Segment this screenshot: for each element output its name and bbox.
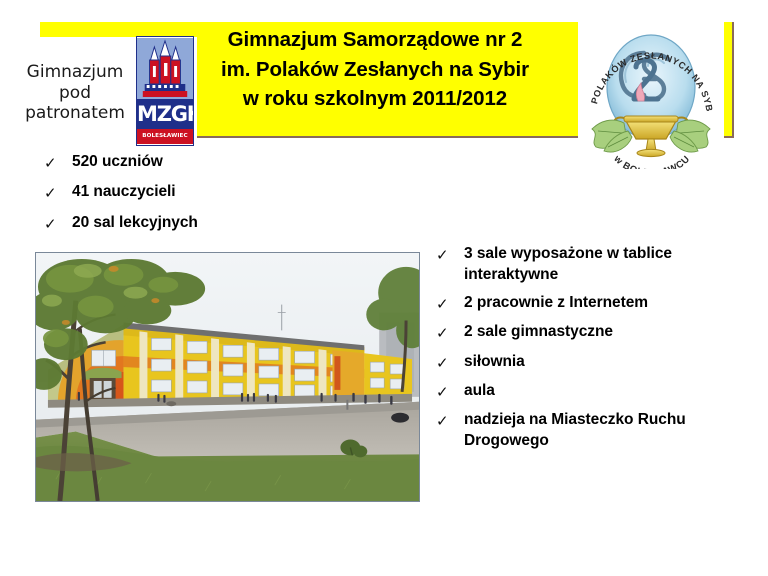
mzgk-logo: MZGK BOLESŁAWIEC <box>136 36 194 146</box>
patron-line-2: pod <box>14 83 136 104</box>
check-icon: ✓ <box>436 293 464 314</box>
list-item-label: 2 pracownie z Internetem <box>464 293 648 314</box>
list-item: ✓ 2 sale gimnastyczne <box>436 322 736 343</box>
mzgk-subtitle: BOLESŁAWIEC <box>137 129 193 144</box>
title-line-1: Gimnazjum Samorządowe nr 2 <box>150 25 600 55</box>
list-item-label: 520 uczniów <box>72 152 163 173</box>
patron-line-3: patronatem <box>14 103 136 124</box>
list-item-label: aula <box>464 381 495 402</box>
list-item-label: nadzieja na Miasteczko Ruchu Drogowego <box>464 410 736 451</box>
castle-icon <box>137 38 193 100</box>
stats-list: ✓ 520 uczniów ✓ 41 nauczycieli ✓ 20 sal … <box>44 152 384 243</box>
title-line-3: w roku szkolnym 2011/2012 <box>150 84 600 114</box>
check-icon: ✓ <box>436 410 464 431</box>
list-item-label: 20 sal lekcyjnych <box>72 213 198 234</box>
list-item: ✓ 520 uczniów <box>44 152 384 173</box>
check-icon: ✓ <box>44 213 72 234</box>
check-icon: ✓ <box>44 182 72 203</box>
list-item-label: 3 sale wyposażone w tablice interaktywne <box>464 244 736 285</box>
mzgk-wordmark: MZGK <box>137 99 193 129</box>
check-icon: ✓ <box>436 352 464 373</box>
list-item: ✓ 41 nauczycieli <box>44 182 384 203</box>
patron-line-1: Gimnazjum <box>14 62 136 83</box>
list-item: ✓ nadzieja na Miasteczko Ruchu Drogowego <box>436 410 736 451</box>
list-item: ✓ siłownia <box>436 352 736 373</box>
list-item: ✓ 2 pracownie z Internetem <box>436 293 736 314</box>
check-icon: ✓ <box>44 152 72 173</box>
list-item: ✓ aula <box>436 381 736 402</box>
check-icon: ✓ <box>436 381 464 402</box>
check-icon: ✓ <box>436 244 464 265</box>
facilities-list: ✓ 3 sale wyposażone w tablice interaktyw… <box>436 244 736 459</box>
school-photo <box>35 252 420 502</box>
school-emblem: im. POLAKÓW ZESŁANYCH NA SYBIR w BOLESŁA… <box>578 17 724 169</box>
title-line-2: im. Polaków Zesłanych na Sybir <box>150 55 600 85</box>
list-item: ✓ 20 sal lekcyjnych <box>44 213 384 234</box>
list-item: ✓ 3 sale wyposażone w tablice interaktyw… <box>436 244 736 285</box>
patron-text: Gimnazjum pod patronatem <box>14 62 136 124</box>
check-icon: ✓ <box>436 322 464 343</box>
list-item-label: 41 nauczycieli <box>72 182 176 203</box>
list-item-label: siłownia <box>464 352 525 373</box>
page-title: Gimnazjum Samorządowe nr 2 im. Polaków Z… <box>150 25 600 114</box>
list-item-label: 2 sale gimnastyczne <box>464 322 613 343</box>
